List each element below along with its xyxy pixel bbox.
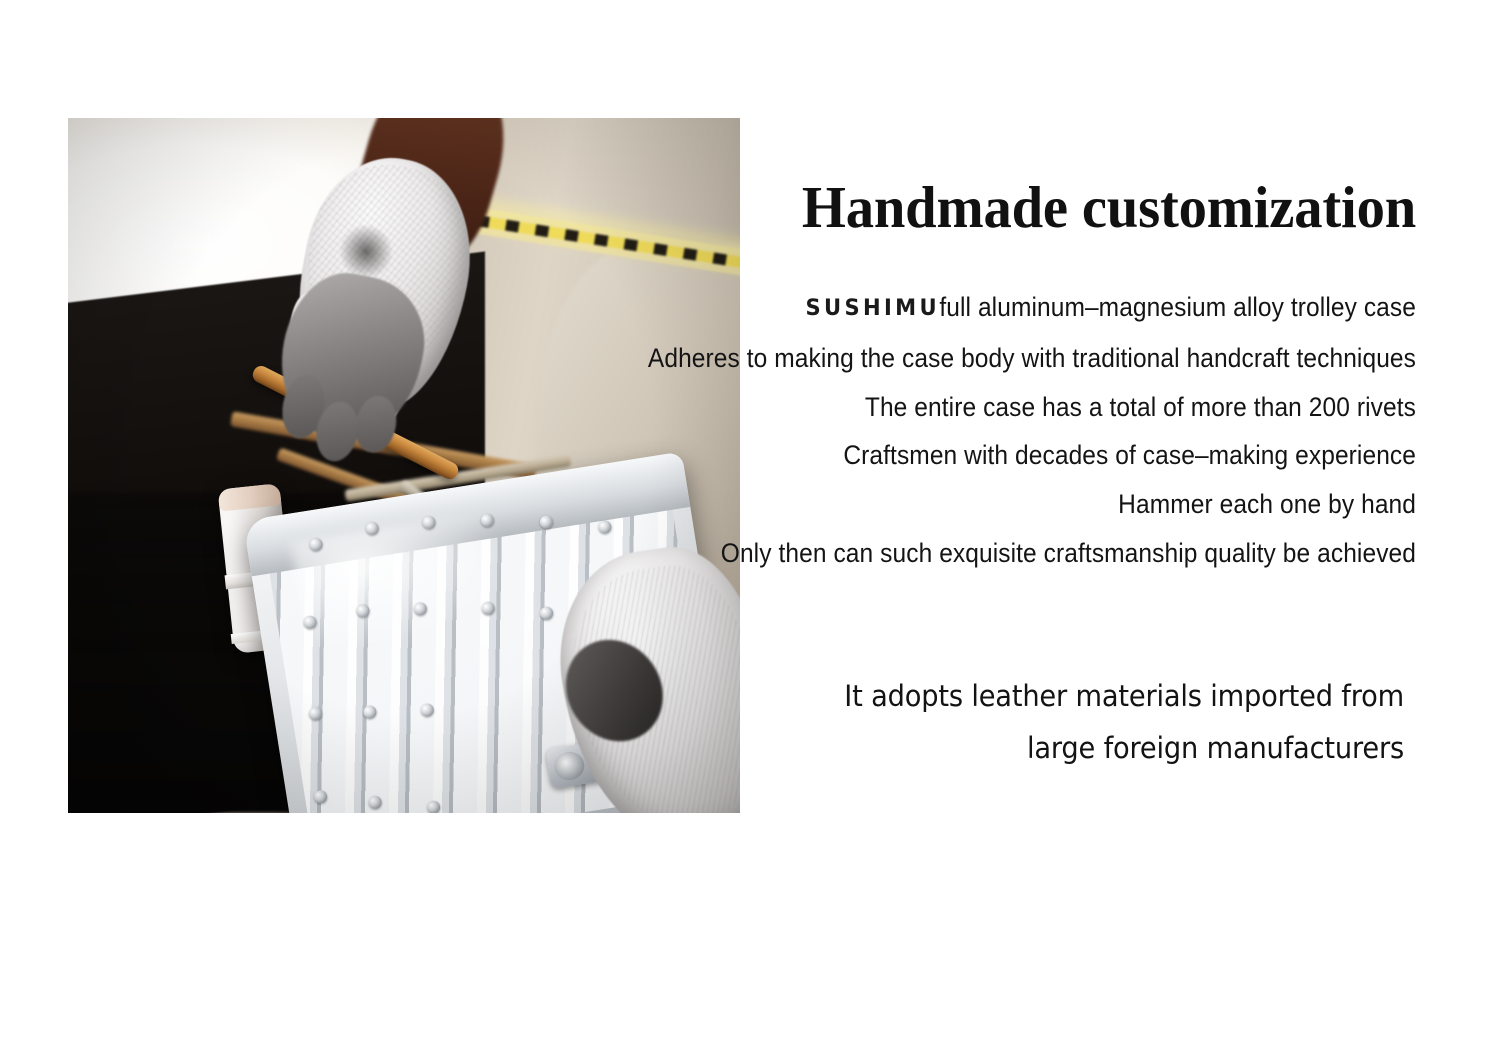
poster-page: Handmade customization SUSHIMUfull alumi… (0, 0, 1500, 1062)
feature-line-text: The entire case has a total of more than… (865, 392, 1416, 422)
feature-line-text: Adheres to making the case body with tra… (648, 343, 1416, 373)
feature-line-text: Craftsmen with decades of case–making ex… (843, 440, 1416, 470)
feature-line-text: Hammer each one by hand (1118, 489, 1416, 519)
feature-copy-block: SUSHIMUfull aluminum–magnesium alloy tro… (560, 283, 1416, 578)
feature-line: Craftsmen with decades of case–making ex… (624, 431, 1416, 480)
feature-line: Only then can such exquisite craftsmansh… (624, 529, 1416, 578)
feature-line: SUSHIMUfull aluminum–magnesium alloy tro… (624, 283, 1416, 334)
closing-copy-block: It adopts leather materials imported fro… (700, 670, 1404, 774)
feature-line-text: Only then can such exquisite craftsmansh… (721, 538, 1416, 568)
feature-line: Hammer each one by hand (624, 480, 1416, 529)
brand-logo: SUSHIMU (805, 285, 939, 335)
feature-line: Adheres to making the case body with tra… (624, 334, 1416, 383)
closing-line: large foreign manufacturers (742, 722, 1404, 774)
closing-line: It adopts leather materials imported fro… (742, 670, 1404, 722)
page-title: Handmade customization (729, 176, 1416, 240)
mallet-head-face (217, 484, 281, 512)
feature-line: The entire case has a total of more than… (624, 383, 1416, 432)
feature-line-text: full aluminum–magnesium alloy trolley ca… (939, 292, 1416, 322)
